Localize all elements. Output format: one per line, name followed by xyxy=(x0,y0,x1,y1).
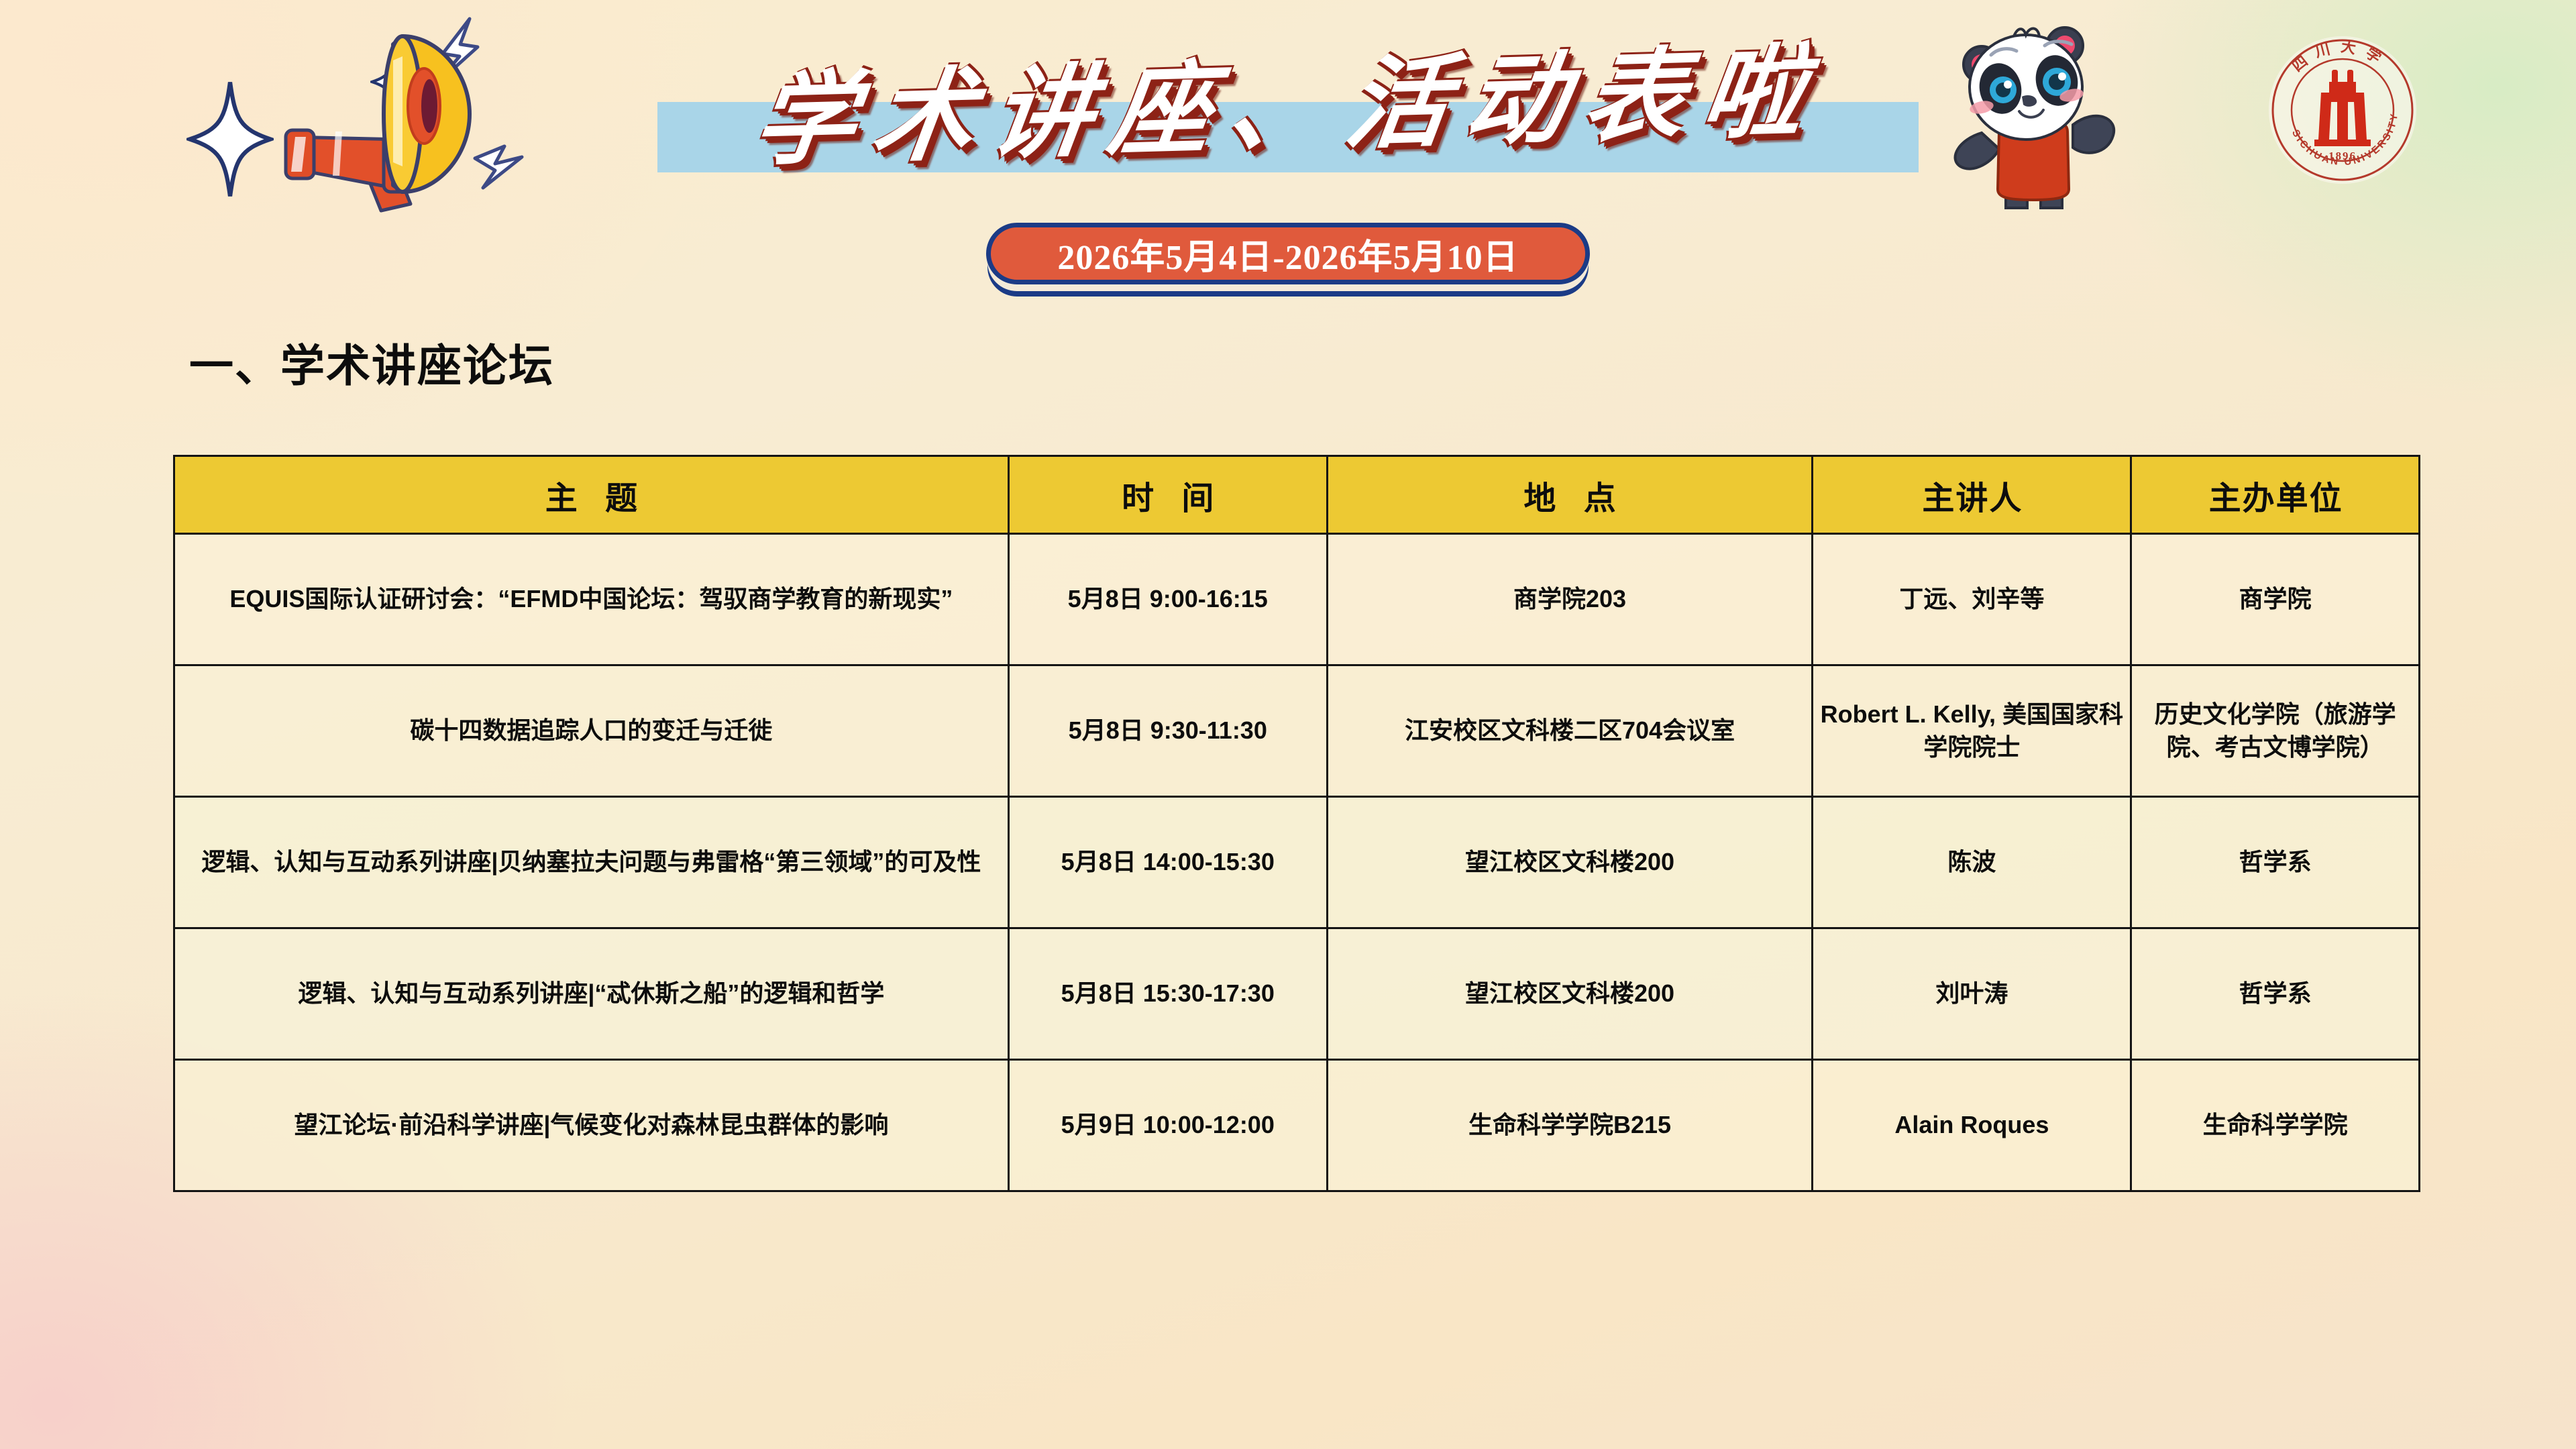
cell-speaker: Robert L. Kelly, 美国国家科学院院士 xyxy=(1813,665,2131,797)
cell-speaker: 刘叶涛 xyxy=(1813,928,2131,1060)
cell-place: 商学院203 xyxy=(1327,534,1813,665)
lecture-schedule-table: 主 题 时 间 地 点 主讲人 主办单位 EQUIS国际认证研讨会：“EFMD中… xyxy=(173,455,2420,1192)
cell-organizer: 哲学系 xyxy=(2131,797,2420,928)
megaphone-icon xyxy=(201,12,550,213)
cell-speaker: Alain Roques xyxy=(1813,1060,2131,1191)
svg-text:SICHUAN UNIVERSITY: SICHUAN UNIVERSITY xyxy=(2290,111,2400,168)
date-range-text: 2026年5月4日-2026年5月10日 xyxy=(1057,229,1518,279)
cell-speaker: 丁远、刘辛等 xyxy=(1813,534,2131,665)
column-header-speaker: 主讲人 xyxy=(1813,456,2131,534)
cell-place: 生命科学学院B215 xyxy=(1327,1060,1813,1191)
table-row: 望江论坛·前沿科学讲座|气候变化对森林昆虫群体的影响 5月9日 10:00-12… xyxy=(174,1060,2420,1191)
date-range-badge: 2026年5月4日-2026年5月10日 xyxy=(986,223,1590,284)
table-row: 逻辑、认知与互动系列讲座|贝纳塞拉夫问题与弗雷格“第三领域”的可及性 5月8日 … xyxy=(174,797,2420,928)
section-heading: 一、学术讲座论坛 xyxy=(189,330,554,394)
table-row: 逻辑、认知与互动系列讲座|“忒休斯之船”的逻辑和哲学 5月8日 15:30-17… xyxy=(174,928,2420,1060)
column-header-time: 时 间 xyxy=(1008,456,1327,534)
sparkle-icon-small xyxy=(370,48,420,115)
column-header-organizer: 主办单位 xyxy=(2131,456,2420,534)
sparkle-icon-large xyxy=(186,80,274,198)
table-row: 碳十四数据追踪人口的变迁与迁徙 5月8日 9:30-11:30 江安校区文科楼二… xyxy=(174,665,2420,797)
cell-topic: 碳十四数据追踪人口的变迁与迁徙 xyxy=(174,665,1009,797)
cell-time: 5月8日 15:30-17:30 xyxy=(1008,928,1327,1060)
cell-place: 望江校区文科楼200 xyxy=(1327,928,1813,1060)
cell-time: 5月8日 14:00-15:30 xyxy=(1008,797,1327,928)
cell-place: 望江校区文科楼200 xyxy=(1327,797,1813,928)
cell-time: 5月8日 9:00-16:15 xyxy=(1008,534,1327,665)
cell-place: 江安校区文科楼二区704会议室 xyxy=(1327,665,1813,797)
cell-speaker: 陈波 xyxy=(1813,797,2131,928)
cell-topic: 逻辑、认知与互动系列讲座|贝纳塞拉夫问题与弗雷格“第三领域”的可及性 xyxy=(174,797,1009,928)
svg-text:四川大学: 四川大学 xyxy=(2289,38,2392,74)
column-header-topic: 主 题 xyxy=(174,456,1009,534)
cell-organizer: 商学院 xyxy=(2131,534,2420,665)
table-header-row: 主 题 时 间 地 点 主讲人 主办单位 xyxy=(174,456,2420,534)
column-header-place: 地 点 xyxy=(1327,456,1813,534)
table-row: EQUIS国际认证研讨会：“EFMD中国论坛：驾驭商学教育的新现实” 5月8日 … xyxy=(174,534,2420,665)
cell-time: 5月8日 9:30-11:30 xyxy=(1008,665,1327,797)
cell-topic: 逻辑、认知与互动系列讲座|“忒休斯之船”的逻辑和哲学 xyxy=(174,928,1009,1060)
cell-organizer: 历史文化学院（旅游学院、考古文博学院） xyxy=(2131,665,2420,797)
panda-mascot-icon xyxy=(1920,7,2141,221)
cell-topic: 望江论坛·前沿科学讲座|气候变化对森林昆虫群体的影响 xyxy=(174,1060,1009,1191)
sichuan-university-seal: 四川大学 SICHUAN UNIVERSITY 1896 xyxy=(2265,32,2420,188)
cell-topic: EQUIS国际认证研讨会：“EFMD中国论坛：驾驭商学教育的新现实” xyxy=(174,534,1009,665)
cell-time: 5月9日 10:00-12:00 xyxy=(1008,1060,1327,1191)
table-body: EQUIS国际认证研讨会：“EFMD中国论坛：驾驭商学教育的新现实” 5月8日 … xyxy=(174,534,2420,1191)
svg-text:1896: 1896 xyxy=(2328,150,2357,162)
cell-organizer: 生命科学学院 xyxy=(2131,1060,2420,1191)
cell-organizer: 哲学系 xyxy=(2131,928,2420,1060)
